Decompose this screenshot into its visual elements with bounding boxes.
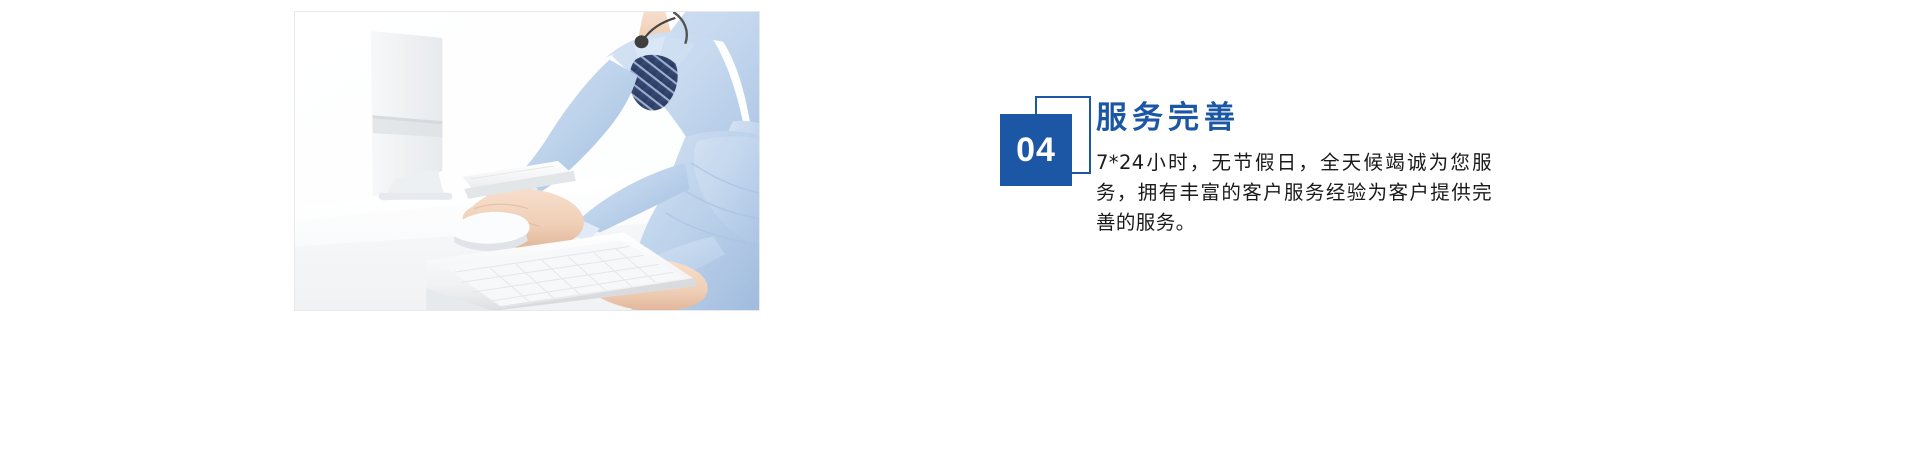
feature-content: 04 服务完善 7*24小时，无节假日，全天候竭诚为您服务，拥有丰富的客户服务经… (1000, 96, 1560, 296)
customer-service-photo (295, 12, 759, 310)
feature-description: 7*24小时，无节假日，全天候竭诚为您服务，拥有丰富的客户服务经验为客户提供完善… (1096, 148, 1492, 238)
feature-photo-frame (294, 11, 760, 311)
page-root: 04 服务完善 7*24小时，无节假日，全天候竭诚为您服务，拥有丰富的客户服务经… (0, 0, 1920, 452)
feature-title: 服务完善 (1096, 98, 1240, 138)
badge-number-label: 04 (1000, 114, 1072, 186)
feature-number-badge: 04 (1000, 96, 1094, 192)
